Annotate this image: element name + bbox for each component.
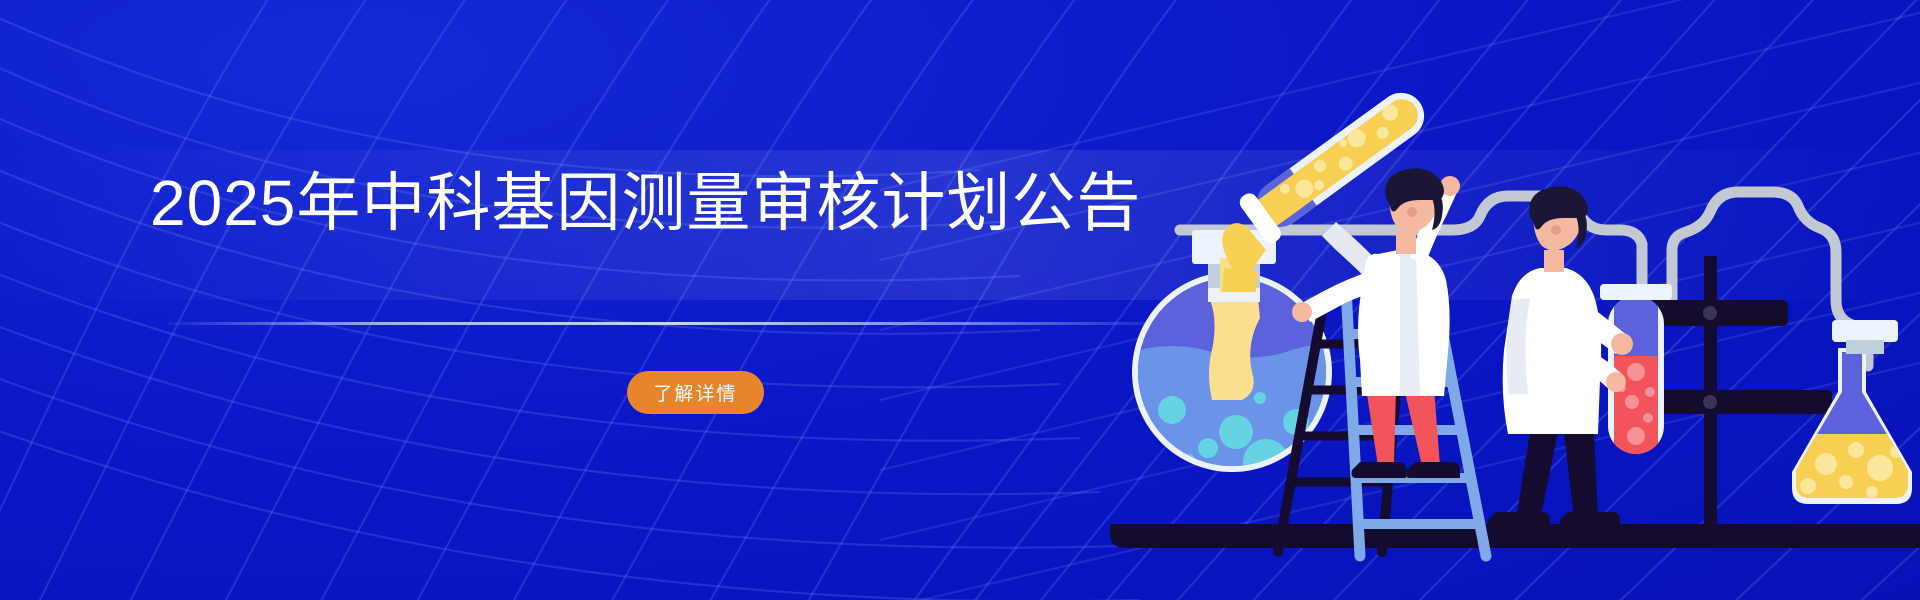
promo-banner: 2025年中科基因测量审核计划公告 了解详情: [0, 0, 1920, 600]
laboratory-illustration: [1060, 0, 1920, 600]
page-title: 2025年中科基因测量审核计划公告: [150, 171, 1141, 235]
title-divider: [168, 322, 1186, 325]
learn-more-button[interactable]: 了解详情: [627, 371, 764, 414]
